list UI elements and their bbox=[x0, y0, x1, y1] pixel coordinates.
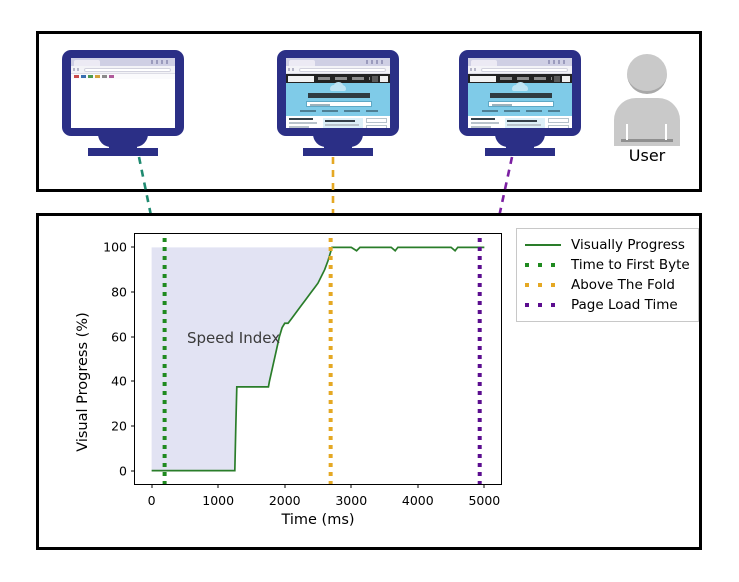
y-axis-title: Visual Progress (%) bbox=[75, 272, 91, 492]
legend-label: Visually Progress bbox=[571, 237, 685, 253]
x-tick-label: 3000 bbox=[335, 493, 367, 508]
x-tick-label: 4000 bbox=[402, 493, 434, 508]
legend-item[interactable]: Above The Fold bbox=[523, 275, 690, 295]
legend-swatch-icon bbox=[523, 298, 563, 312]
plot-area: Speed Index 0204060801000100020003000400… bbox=[134, 233, 502, 485]
legend-swatch-icon bbox=[523, 238, 563, 252]
y-tick-label: 40 bbox=[111, 374, 127, 389]
x-tick-mark bbox=[351, 484, 352, 488]
y-tick-mark bbox=[131, 381, 135, 382]
y-tick-mark bbox=[131, 470, 135, 471]
speed-index-annotation: Speed Index bbox=[187, 329, 280, 347]
y-tick-mark bbox=[131, 247, 135, 248]
y-tick-label: 60 bbox=[111, 329, 127, 344]
speed-index-fill-area bbox=[152, 247, 485, 470]
y-tick-mark bbox=[131, 336, 135, 337]
legend-item[interactable]: Page Load Time bbox=[523, 295, 690, 315]
legend-line-sample bbox=[525, 283, 561, 287]
x-tick-mark bbox=[417, 484, 418, 488]
plot-svg bbox=[135, 234, 501, 484]
y-tick-mark bbox=[131, 292, 135, 293]
chart-legend: Visually ProgressTime to First ByteAbove… bbox=[516, 228, 699, 322]
x-tick-mark bbox=[284, 484, 285, 488]
legend-label: Page Load Time bbox=[571, 297, 678, 313]
legend-item[interactable]: Visually Progress bbox=[523, 235, 690, 255]
x-axis-title: Time (ms) bbox=[134, 512, 502, 528]
legend-swatch-icon bbox=[523, 278, 563, 292]
legend-line-sample bbox=[525, 263, 561, 267]
y-tick-label: 0 bbox=[119, 463, 127, 478]
x-tick-label: 2000 bbox=[269, 493, 301, 508]
legend-item[interactable]: Time to First Byte bbox=[523, 255, 690, 275]
legend-label: Above The Fold bbox=[571, 277, 675, 293]
x-tick-label: 1000 bbox=[202, 493, 234, 508]
legend-line-sample bbox=[525, 244, 561, 246]
legend-swatch-icon bbox=[523, 258, 563, 272]
legend-line-sample bbox=[525, 303, 561, 307]
x-tick-mark bbox=[151, 484, 152, 488]
legend-label: Time to First Byte bbox=[571, 257, 690, 273]
x-tick-mark bbox=[218, 484, 219, 488]
y-tick-label: 80 bbox=[111, 285, 127, 300]
y-tick-mark bbox=[131, 425, 135, 426]
speed-index-chart-panel: Speed Index 0204060801000100020003000400… bbox=[36, 213, 702, 550]
x-tick-label: 5000 bbox=[468, 493, 500, 508]
y-tick-label: 100 bbox=[103, 240, 127, 255]
x-tick-label: 0 bbox=[148, 493, 156, 508]
y-tick-label: 20 bbox=[111, 418, 127, 433]
x-tick-mark bbox=[484, 484, 485, 488]
